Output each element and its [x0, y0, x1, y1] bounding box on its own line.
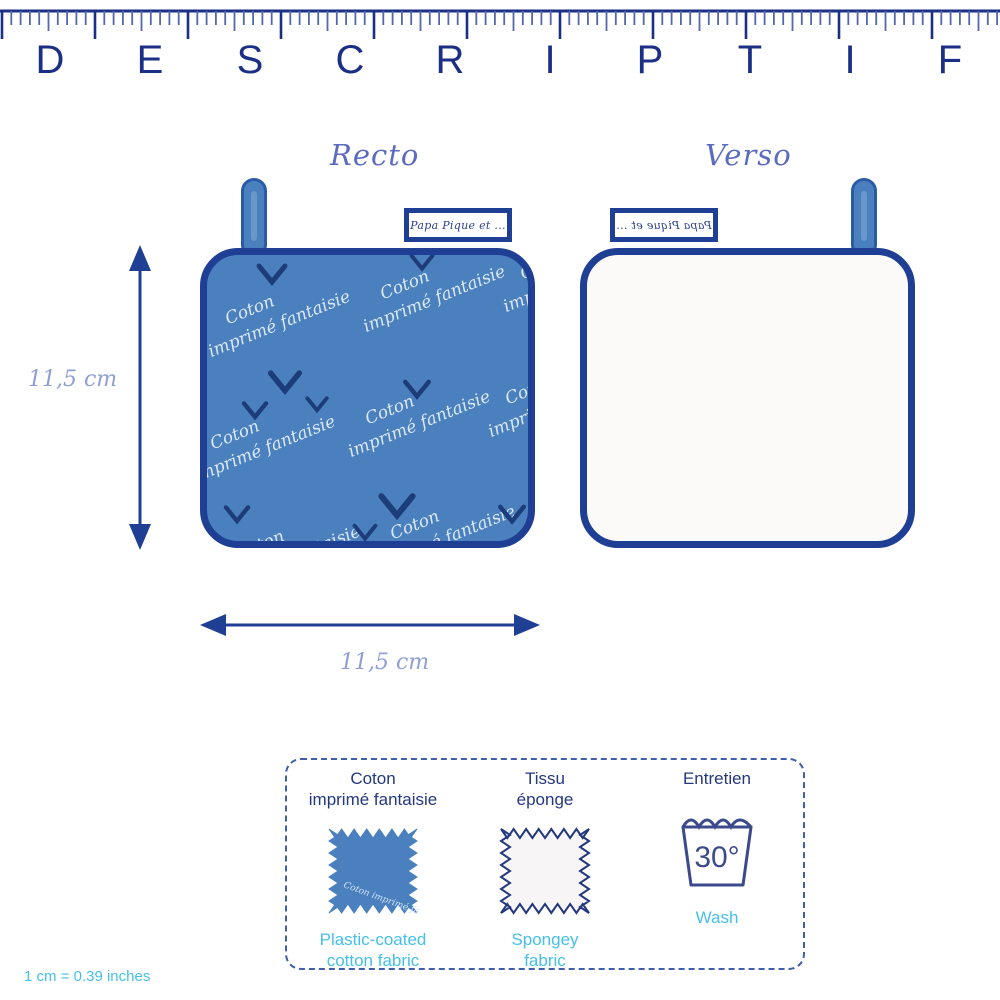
title-letter: E [100, 40, 200, 80]
height-dimension-arrow [110, 245, 170, 550]
brand-tag-text-mirrored: Papa Pique et ... [616, 219, 712, 232]
legend-title-fr: Entretien [683, 768, 751, 789]
svg-text:imprimé fantaisie: imprimé fantaisie [500, 248, 535, 317]
title-letter: I [800, 40, 900, 80]
cotton-swatch-icon: Coton imprimé fa [319, 819, 427, 923]
wash-temperature-label: 30° [694, 841, 739, 874]
recto-hanging-loop [241, 178, 267, 256]
svg-text:Coton: Coton [527, 486, 535, 524]
svg-text:Coton: Coton [232, 526, 287, 548]
svg-text:Coton: Coton [502, 371, 535, 409]
recto-brand-tag: Papa Pique et ... [404, 208, 512, 242]
legend-caption-en: Wash [696, 907, 739, 928]
sponge-swatch-icon [491, 819, 599, 923]
width-dimension-label: 11,5 cm [340, 650, 429, 675]
ruler-header: D E S C R I P T I F [0, 0, 1000, 100]
height-dimension-label: 11,5 cm [28, 367, 117, 392]
verso-product-body [580, 248, 915, 548]
legend-item-sponge: Tissu éponge Spongey fabric [470, 768, 620, 971]
legend-caption-en: Spongey fabric [511, 929, 578, 972]
width-dimension-arrow [200, 605, 540, 645]
recto-product-body: Cotonimprimé fantaisieCotonimprimé fanta… [200, 248, 535, 548]
verso-brand-tag: Papa Pique et ... [610, 208, 718, 242]
wash-30-icon: 30° [667, 805, 767, 893]
legend-title-fr: Coton imprimé fantaisie [309, 768, 438, 811]
title-letter: I [500, 40, 600, 80]
verso-hanging-loop [851, 178, 877, 256]
svg-text:imprimé fantaisie: imprimé fantaisie [215, 522, 363, 548]
verso-label: Verso [705, 138, 792, 172]
title-letter: F [900, 40, 1000, 80]
title-letter: S [200, 40, 300, 80]
title-letter: D [0, 40, 100, 80]
title-letter: C [300, 40, 400, 80]
title-letter: P [600, 40, 700, 80]
legend-title-fr: Tissu éponge [517, 768, 574, 811]
loop-highlight [251, 191, 257, 241]
brand-tag-text: Papa Pique et ... [410, 219, 506, 232]
legend-item-cotton: Coton imprimé fantaisie Coton imprimé fa… [298, 768, 448, 971]
page-title: D E S C R I P T I F [0, 30, 1000, 90]
fabric-pattern: Cotonimprimé fantaisieCotonimprimé fanta… [200, 248, 535, 548]
legend-item-wash: Entretien 30° Wash [642, 768, 792, 929]
recto-label: Recto [330, 138, 419, 172]
unit-conversion-note: 1 cm = 0.39 inches [24, 968, 150, 985]
legend-panel: Coton imprimé fantaisie Coton imprimé fa… [285, 758, 805, 970]
loop-highlight [861, 191, 867, 241]
svg-text:Coton: Coton [517, 248, 535, 284]
legend-caption-en: Plastic-coated cotton fabric [320, 929, 427, 972]
title-letter: T [700, 40, 800, 80]
title-letter: R [400, 40, 500, 80]
